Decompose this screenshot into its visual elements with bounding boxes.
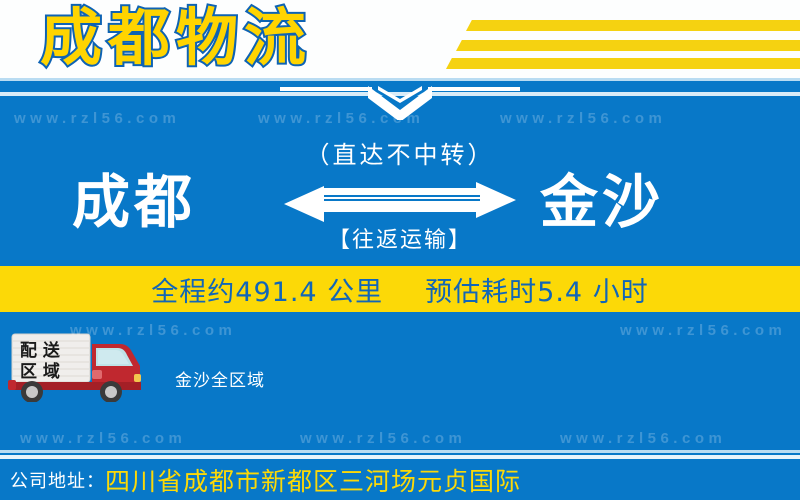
metrics-band: 全程约491.4 公里 预估耗时5.4 小时 bbox=[0, 266, 800, 312]
stripe-1 bbox=[466, 20, 800, 31]
delivery-truck-icon: 配 送 区 域 bbox=[8, 330, 158, 402]
roundtrip-note: 【往返运输】 bbox=[0, 222, 800, 254]
page-title: 成都物流 bbox=[40, 2, 312, 74]
truck-box-line2: 区 域 bbox=[20, 361, 60, 382]
watermark-3: www.rzl56.com bbox=[500, 110, 666, 127]
stripe-2 bbox=[456, 40, 800, 51]
watermark-4: www.rzl56.com bbox=[620, 322, 786, 339]
distance-value: 全程约491.4 公里 bbox=[151, 270, 383, 309]
truck-box-line1: 配 送 bbox=[20, 340, 61, 361]
watermark-7: www.rzl56.com bbox=[300, 430, 466, 447]
decorative-stripes bbox=[400, 0, 800, 78]
logistics-poster: 成都物流 成都 金沙 （直达不中转） 【往返运输】 bbox=[0, 0, 800, 500]
watermark-6: www.rzl56.com bbox=[20, 430, 186, 447]
watermark-8: www.rzl56.com bbox=[560, 430, 726, 447]
address-label: 公司地址： bbox=[10, 467, 105, 493]
coverage-area-label: 金沙全区域 bbox=[175, 366, 265, 391]
stripe-3 bbox=[446, 58, 800, 69]
double-arrow-icon bbox=[280, 178, 520, 223]
footer-divider-top bbox=[0, 450, 800, 453]
address-value: 四川省成都市新都区三河场元贞国际 bbox=[105, 462, 521, 498]
duration-value: 预估耗时5.4 小时 bbox=[425, 270, 649, 309]
footer-band: 公司地址： 四川省成都市新都区三河场元贞国际 bbox=[0, 459, 800, 500]
direct-service-note: （直达不中转） bbox=[0, 135, 800, 170]
header-divider-top bbox=[0, 78, 800, 81]
watermark-1: www.rzl56.com bbox=[14, 110, 180, 127]
chevron-down-icon bbox=[280, 86, 520, 120]
